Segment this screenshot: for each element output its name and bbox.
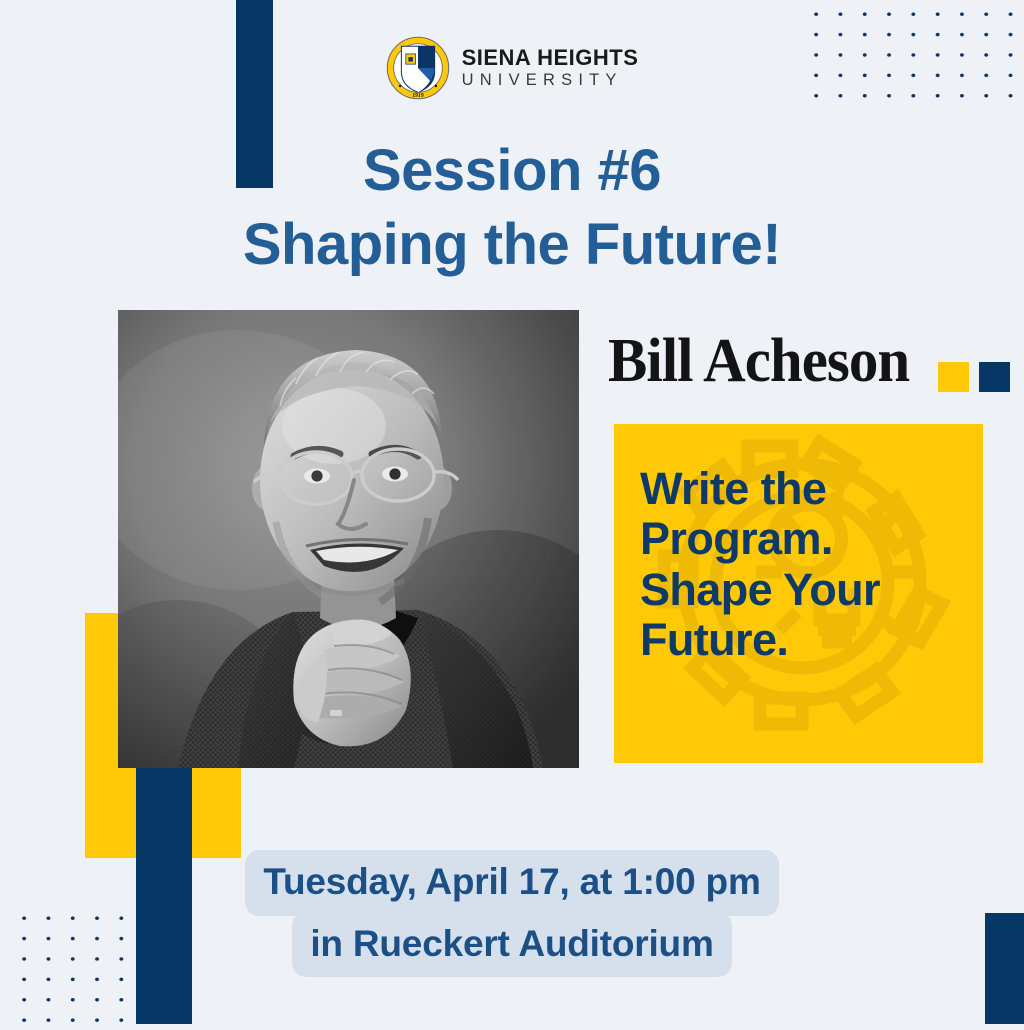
tagline-line-1: Write the <box>640 464 969 514</box>
tagline-line-4: Future. <box>640 615 969 665</box>
event-datetime-text: Tuesday, April 17, at 1:00 pm <box>245 850 778 916</box>
headline-line-1: Session #6 <box>0 134 1024 208</box>
portrait-illustration <box>118 310 579 768</box>
speaker-name: Bill Acheson <box>608 330 909 392</box>
logo-line-1: SIENA HEIGHTS <box>462 47 639 69</box>
seal-year-text: 1919 <box>412 93 424 99</box>
accent-square-yellow <box>938 362 969 392</box>
page-title: Session #6 Shaping the Future! <box>0 134 1024 282</box>
tagline-line-2: Program. <box>640 514 969 564</box>
event-location-text: in Rueckert Auditorium <box>292 912 731 978</box>
logo-line-2: UNIVERSITY <box>462 72 639 89</box>
tagline-text: Write the Program. Shape Your Future. <box>640 464 969 666</box>
accent-square-navy <box>979 362 1010 392</box>
university-seal-icon: 1919 <box>386 36 450 100</box>
event-location-line: in Rueckert Auditorium <box>0 912 1024 978</box>
tagline-line-3: Shape Your <box>640 565 969 615</box>
speaker-portrait-photo <box>118 310 579 768</box>
headline-line-2: Shaping the Future! <box>0 208 1024 282</box>
university-logo: 1919 SIENA HEIGHTS UNIVERSITY <box>0 36 1024 100</box>
event-details: Tuesday, April 17, at 1:00 pm in Ruecker… <box>0 850 1024 977</box>
logo-wordmark: SIENA HEIGHTS UNIVERSITY <box>462 47 639 89</box>
tagline-card: Write the Program. Shape Your Future. <box>614 424 983 763</box>
event-datetime-line: Tuesday, April 17, at 1:00 pm <box>0 850 1024 916</box>
